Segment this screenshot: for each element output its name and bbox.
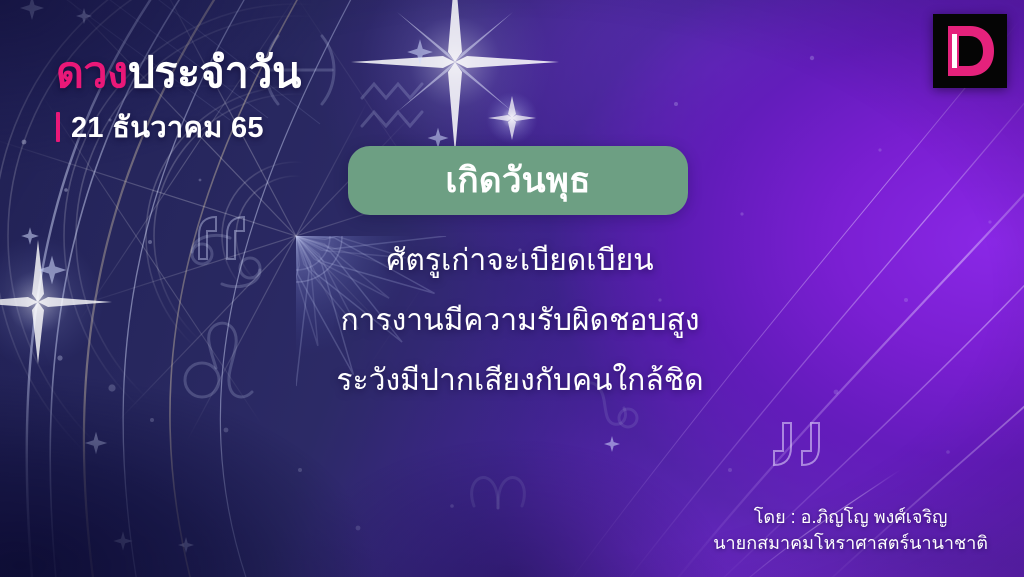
credit-block: โดย : อ.ภิญโญ พงศ์เจริญ นายกสมาคมโหราศาส… [713, 504, 988, 557]
day-badge-label: เกิดวันพุธ [445, 163, 590, 198]
credit-role: นายกสมาคมโหราศาสตร์นานาชาติ [713, 530, 988, 557]
forecast-line-2: การงานมีความรับผิดชอบสูง [250, 306, 790, 336]
date-row: 21 ธันวาคม 65 [56, 104, 301, 150]
credit-author: โดย : อ.ภิญโญ พงศ์เจริญ [713, 504, 988, 531]
page-title-highlight: ดวง [56, 49, 128, 97]
page-title: ดวงประจำวัน [56, 50, 301, 96]
date-accent-bar [56, 112, 60, 142]
forecast-block: ศัตรูเก่าจะเบียดเบียน การงานมีความรับผิด… [250, 246, 790, 396]
header: ดวงประจำวัน 21 ธันวาคม 65 [56, 50, 301, 150]
d-logo[interactable] [933, 14, 1007, 88]
day-badge: เกิดวันพุธ [348, 146, 688, 215]
forecast-line-1: ศัตรูเก่าจะเบียดเบียน [250, 246, 790, 276]
page-title-rest: ประจำวัน [128, 49, 301, 97]
horoscope-card: ดวงประจำวัน 21 ธันวาคม 65 เกิดวันพุธ ศัต… [0, 0, 1024, 577]
date-text: 21 ธันวาคม 65 [71, 104, 264, 150]
forecast-line-3: ระวังมีปากเสียงกับคนใกล้ชิด [250, 366, 790, 396]
